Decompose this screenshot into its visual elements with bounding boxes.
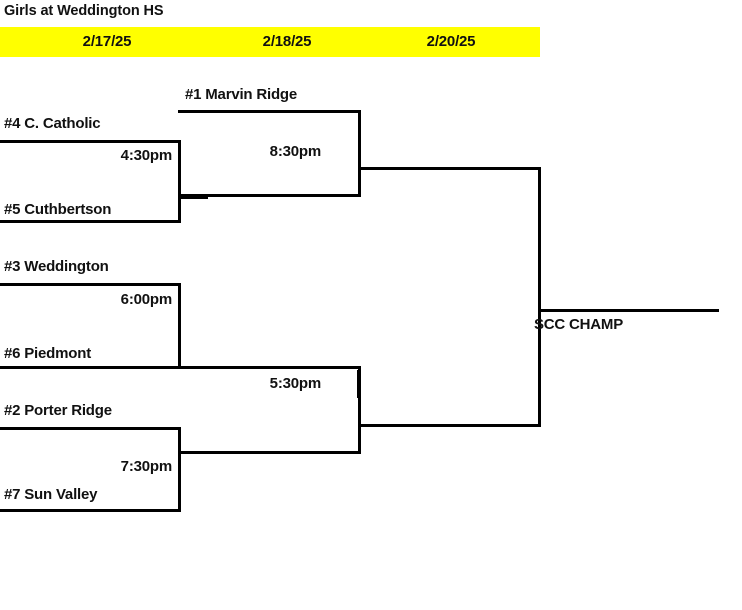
match-round2-2-bottom-line (178, 451, 361, 454)
champion-result-line (538, 309, 719, 312)
match-round1-2-right-line (178, 283, 181, 369)
match-round1-2-time: 6:00pm (0, 291, 172, 308)
match-final-right-line (538, 167, 541, 427)
date-column-final: 2/20/25 (361, 27, 541, 57)
team-seed-1: #1 Marvin Ridge (185, 86, 297, 103)
match-round2-1-time: 8:30pm (178, 143, 321, 160)
match-round1-3-bottom-line (0, 509, 181, 512)
match-round2-2-right-line-overlap (357, 370, 361, 398)
match-round1-1-bottom-line (0, 220, 181, 223)
match-round1-3-right-line (178, 427, 181, 512)
match-round2-2-time: 5:30pm (178, 375, 321, 392)
team-seed-4: #4 C. Catholic (4, 115, 100, 132)
bracket-page: Girls at Weddington HS 2/17/25 2/18/25 2… (0, 0, 742, 610)
match-round2-1-right-line (358, 110, 361, 197)
match-round1-3-time: 7:30pm (0, 458, 172, 475)
match-final-bottom-line (358, 424, 541, 427)
team-seed-2: #2 Porter Ridge (4, 402, 112, 419)
team-seed-5: #5 Cuthbertson (4, 201, 111, 218)
date-column-round1: 2/17/25 (17, 27, 197, 57)
match-round2-2-top-line (178, 366, 361, 369)
team-seed-7: #7 Sun Valley (4, 486, 97, 503)
date-column-round2: 2/18/25 (197, 27, 377, 57)
match-round2-1-top-line (178, 110, 361, 113)
team-seed-3: #3 Weddington (4, 258, 109, 275)
match-round1-1-top-line (0, 140, 181, 143)
match-round1-2-top-line (0, 283, 181, 286)
date-header-bar: 2/17/25 2/18/25 2/20/25 (0, 27, 540, 57)
match-final-top-line (358, 167, 541, 170)
champion-label: SCC CHAMP (534, 316, 623, 333)
match-round2-1-bottom-line (178, 194, 361, 197)
team-seed-6: #6 Piedmont (4, 345, 91, 362)
match-round1-1-time: 4:30pm (0, 147, 172, 164)
match-round1-3-top-line (0, 427, 181, 430)
page-title: Girls at Weddington HS (4, 3, 163, 19)
match-round1-2-bottom-line (0, 366, 181, 369)
